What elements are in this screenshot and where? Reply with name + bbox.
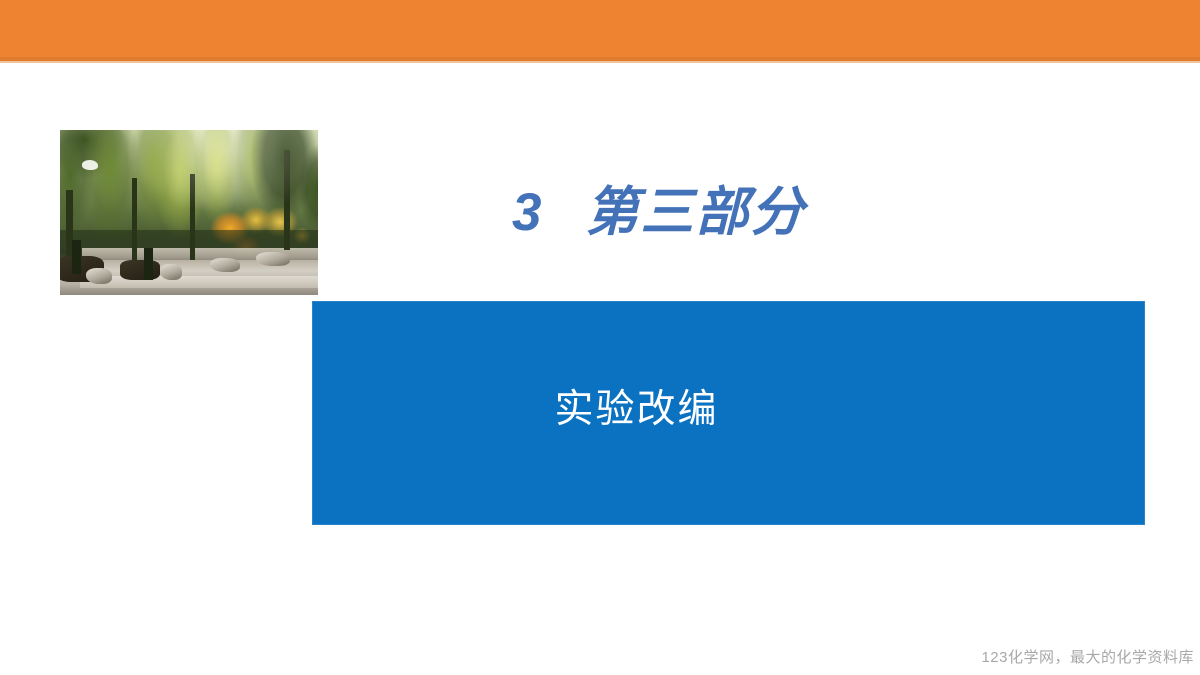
photo-haze-overlay xyxy=(60,130,318,295)
section-number: 3 xyxy=(512,183,543,242)
slide-canvas: 3第三部分 实验改编 123化学网，最大的化学资料库 xyxy=(0,0,1200,675)
content-block: 实验改编 xyxy=(312,301,1145,525)
section-title: 第三部分 xyxy=(585,183,805,242)
top-orange-band xyxy=(0,0,1200,57)
top-orange-band-highlight xyxy=(0,61,1200,63)
content-block-text: 实验改编 xyxy=(554,386,718,434)
section-heading: 3第三部分 xyxy=(512,182,805,244)
footer-watermark: 123化学网，最大的化学资料库 xyxy=(981,646,1194,667)
park-photo-thumbnail xyxy=(60,130,318,295)
